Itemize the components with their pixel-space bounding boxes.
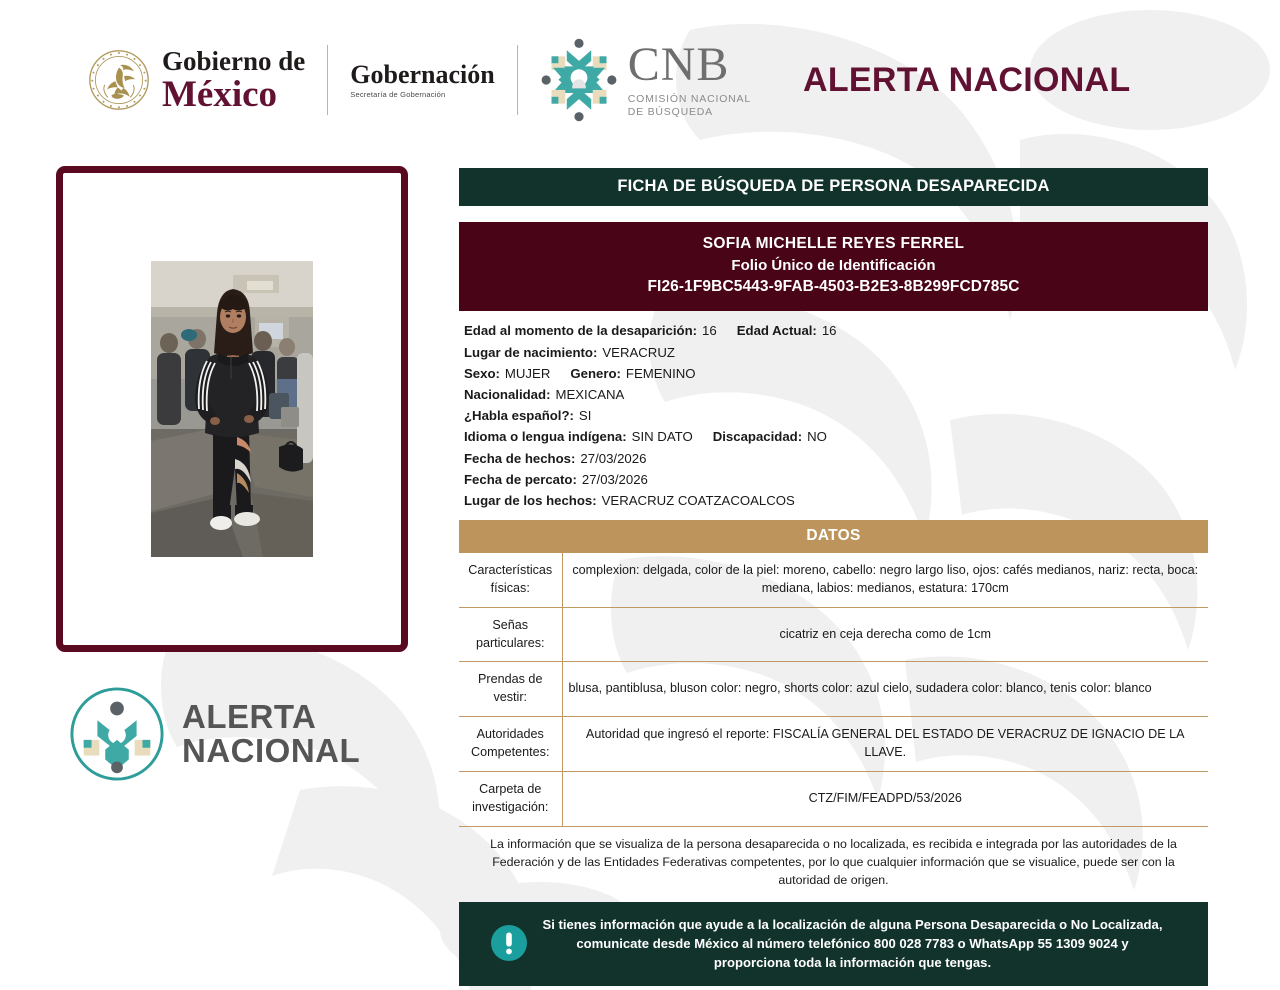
edad-desaparicion-value: 16 (702, 323, 717, 338)
disclaimer-text: La información que se visualiza de la pe… (459, 836, 1208, 890)
discapacidad-value: NO (807, 429, 827, 444)
alerta-logo-line2: NACIONAL (182, 734, 360, 768)
field-lugar-hechos: Lugar de los hechos:VERACRUZ COATZACOALC… (464, 490, 1208, 511)
cnb-flower-icon (540, 38, 618, 122)
ficha-title-bar: FICHA DE BÚSQUEDA DE PERSONA DESAPARECID… (459, 168, 1208, 206)
identity-fields: Edad al momento de la desaparición:16Eda… (459, 320, 1208, 511)
alert-details-panel: FICHA DE BÚSQUEDA DE PERSONA DESAPARECID… (459, 168, 1208, 986)
field-edad-desaparicion: Edad al momento de la desaparición:16Eda… (464, 320, 1208, 341)
alert-document: Gobierno de México Gobernación Secretarí… (0, 0, 1280, 990)
contact-info-bar: Si tienes información que ayude a la loc… (459, 902, 1208, 986)
mexico-label: México (162, 76, 305, 113)
person-photo-frame (56, 166, 408, 652)
row-key: Autoridades Competentes: (459, 717, 562, 772)
row-value: CTZ/FIM/FEADPD/53/2026 (562, 771, 1208, 826)
field-fecha-hechos: Fecha de hechos:27/03/2026 (464, 447, 1208, 468)
table-row: Prendas de vestir: blusa, pantiblusa, bl… (459, 662, 1208, 717)
alerta-nacional-title: ALERTA NACIONAL (803, 61, 1130, 100)
sexo-value: MUJER (505, 366, 550, 381)
header-divider-2 (517, 45, 518, 115)
field-idioma-discapacidad: Idioma o lengua indígena:SIN DATODiscapa… (464, 426, 1208, 447)
habla-espanol-label: ¿Habla español?: (464, 408, 574, 423)
alerta-nacional-logo: ALERTA NACIONAL (68, 680, 408, 788)
header-divider-1 (327, 45, 328, 115)
cnb-subtitle-line1: COMISIÓN NACIONAL (628, 93, 751, 106)
folio-label: Folio Único de Identificación (459, 255, 1208, 276)
sexo-label: Sexo: (464, 366, 500, 381)
alerta-logo-line1: ALERTA (182, 700, 360, 734)
cnb-acronym-label: CNB (628, 41, 751, 89)
discapacidad-label: Discapacidad: (713, 429, 802, 444)
habla-espanol-value: SI (579, 408, 591, 423)
field-lugar-nacimiento: Lugar de nacimiento:VERACRUZ (464, 341, 1208, 362)
genero-value: FEMENINO (626, 366, 696, 381)
gobernacion-logo: Gobernación Secretaría de Gobernación (350, 62, 494, 99)
genero-label: Genero: (570, 366, 621, 381)
field-habla-espanol: ¿Habla español?:SI (464, 405, 1208, 426)
gobierno-label: Gobierno de (162, 48, 305, 75)
fecha-percato-label: Fecha de percato: (464, 472, 577, 487)
alerta-nacional-badge-icon (68, 685, 166, 783)
gobierno-de-mexico-logo: Gobierno de México (88, 48, 305, 113)
row-key: Carpeta de investigación: (459, 771, 562, 826)
row-value: complexion: delgada, color de la piel: m… (562, 553, 1208, 607)
gobernacion-label: Gobernación (350, 62, 494, 88)
row-value: blusa, pantiblusa, bluson color: negro, … (562, 662, 1208, 717)
table-row: Señas particulares: cicatriz en ceja der… (459, 607, 1208, 662)
fecha-hechos-value: 27/03/2026 (580, 451, 646, 466)
idioma-label: Idioma o lengua indígena: (464, 429, 627, 444)
nacionalidad-value: MEXICANA (555, 387, 624, 402)
table-row: Características físicas: complexion: del… (459, 553, 1208, 607)
edad-actual-value: 16 (822, 323, 837, 338)
row-key: Características físicas: (459, 553, 562, 607)
edad-actual-label: Edad Actual: (737, 323, 817, 338)
row-key: Señas particulares: (459, 607, 562, 662)
datos-table: Características físicas: complexion: del… (459, 553, 1208, 827)
idioma-value: SIN DATO (632, 429, 693, 444)
gobernacion-subtitle: Secretaría de Gobernación (350, 91, 494, 99)
lugar-hechos-value: VERACRUZ COATZACOALCOS (602, 493, 795, 508)
field-fecha-percato: Fecha de percato:27/03/2026 (464, 469, 1208, 490)
document-header: Gobierno de México Gobernación Secretarí… (0, 0, 1280, 160)
table-row: Autoridades Competentes: Autoridad que i… (459, 717, 1208, 772)
lugar-hechos-label: Lugar de los hechos: (464, 493, 597, 508)
exclamation-icon (489, 923, 529, 963)
row-value: Autoridad que ingresó el reporte: FISCAL… (562, 717, 1208, 772)
row-value: cicatriz en ceja derecha como de 1cm (562, 607, 1208, 662)
missing-person-photo (151, 261, 313, 557)
table-row: Carpeta de investigación: CTZ/FIM/FEADPD… (459, 771, 1208, 826)
person-name-bar: SOFIA MICHELLE REYES FERREL Folio Único … (459, 222, 1208, 311)
fecha-percato-value: 27/03/2026 (582, 472, 648, 487)
field-sexo-genero: Sexo:MUJERGenero:FEMENINO (464, 363, 1208, 384)
folio-value: FI26-1F9BC5443-9FAB-4503-B2E3-8B299FCD78… (459, 276, 1208, 298)
nacionalidad-label: Nacionalidad: (464, 387, 550, 402)
lugar-nacimiento-value: VERACRUZ (602, 345, 675, 360)
cnb-logo: CNB COMISIÓN NACIONAL DE BÚSQUEDA (540, 38, 751, 122)
row-key: Prendas de vestir: (459, 662, 562, 717)
mexican-national-seal-icon (88, 49, 150, 111)
person-name: SOFIA MICHELLE REYES FERREL (459, 233, 1208, 255)
lugar-nacimiento-label: Lugar de nacimiento: (464, 345, 597, 360)
datos-title-bar: DATOS (459, 520, 1208, 553)
fecha-hechos-label: Fecha de hechos: (464, 451, 575, 466)
field-nacionalidad: Nacionalidad:MEXICANA (464, 384, 1208, 405)
contact-message: Si tienes información que ayude a la loc… (529, 915, 1192, 972)
cnb-subtitle-line2: DE BÚSQUEDA (628, 106, 751, 119)
edad-desaparicion-label: Edad al momento de la desaparición: (464, 323, 697, 338)
